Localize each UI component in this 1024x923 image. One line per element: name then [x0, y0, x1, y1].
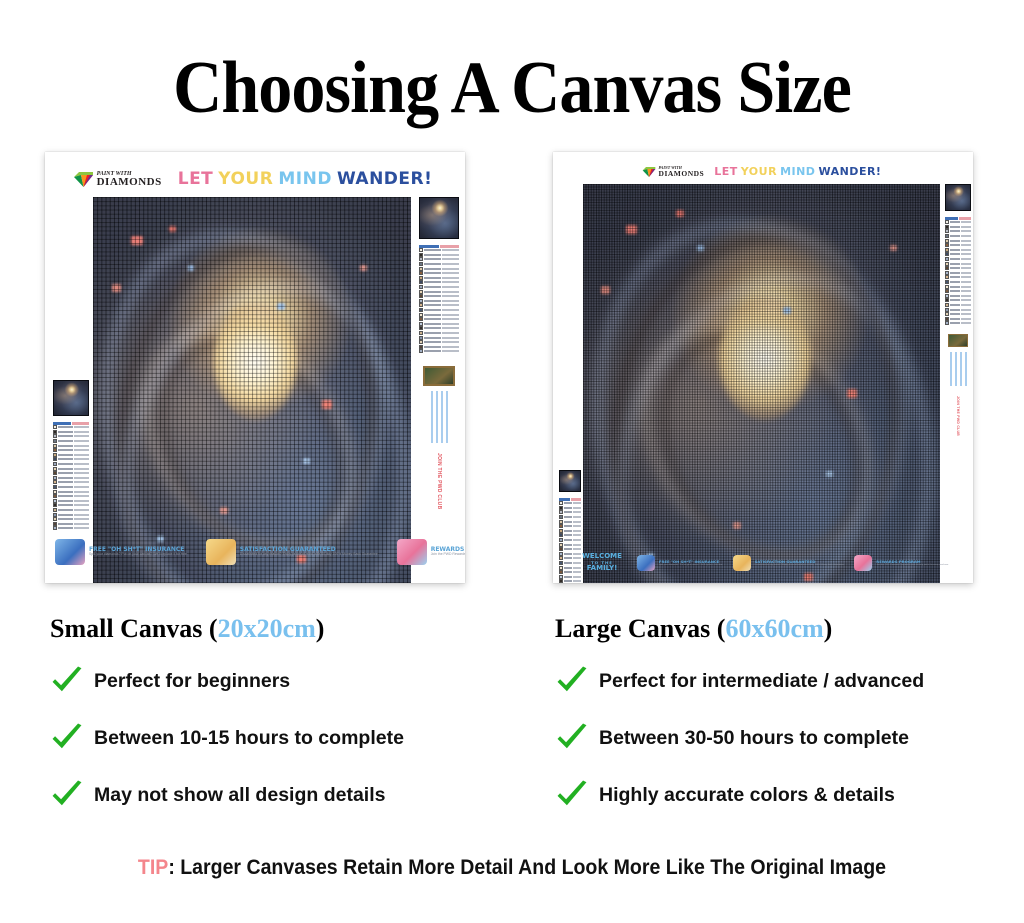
star-cluster — [112, 284, 121, 292]
dmc-qty — [573, 507, 581, 509]
dmc-color-chart — [419, 244, 459, 354]
dmc-qty — [442, 300, 459, 302]
dmc-qty — [961, 249, 971, 251]
tip-label: TIP — [138, 856, 168, 879]
large-canvas-preview: PAINT WITH DIAMONDS LETYOURMINDWANDER! — [553, 152, 973, 583]
galaxy-artwork-large — [583, 184, 940, 583]
dmc-qty — [74, 523, 89, 525]
star-cluster — [890, 245, 897, 251]
star-cluster — [826, 471, 833, 477]
dmc-qty — [961, 309, 971, 311]
large-canvas-dimensions: 60x60cm — [725, 614, 823, 643]
star-cluster — [169, 226, 176, 232]
dmc-code — [424, 263, 441, 265]
dmc-qty — [573, 525, 581, 527]
dmc-code — [950, 235, 960, 237]
thumbnail-image — [945, 184, 971, 211]
welcome-badge: WELCOME TO THE FAMILY! — [582, 553, 622, 573]
dmc-qty — [74, 527, 89, 529]
dmc-code — [424, 309, 441, 311]
dmc-code — [58, 440, 73, 442]
brand-logo: PAINT WITH DIAMONDS — [642, 166, 705, 178]
dmc-code — [950, 240, 960, 242]
dmc-qty — [961, 295, 971, 297]
dmc-code — [950, 221, 960, 223]
dmc-code — [58, 500, 73, 502]
dmc-qty — [442, 318, 459, 320]
dmc-code — [58, 468, 73, 470]
galaxy-image — [93, 197, 411, 583]
dmc-code — [950, 304, 960, 306]
info-bar — [950, 352, 952, 386]
thumbnail-image — [419, 197, 459, 239]
dmc-qty — [74, 509, 89, 511]
dmc-code — [950, 309, 960, 311]
reference-thumbnail — [945, 184, 971, 211]
info-bar — [955, 352, 957, 386]
canvas-footer-badges: WELCOME TO THE FAMILY! FREE "OH SH*T" IN… — [45, 533, 465, 571]
dmc-qty — [442, 327, 459, 329]
checkmark-icon — [50, 780, 84, 810]
rewards-badge: REWARDS PROGRAM Join the PWD Rewards Pro… — [397, 539, 465, 565]
dmc-code — [564, 580, 572, 582]
insurance-badge: FREE "OH SH*T" INSURANCE Spill your diam… — [55, 539, 188, 565]
large-canvas-details: Large Canvas (60x60cm) Perfect for inter… — [555, 614, 1024, 837]
dmc-qty — [961, 263, 971, 265]
canvas-header: PAINT WITH DIAMONDS LETYOURMINDWANDER! — [45, 170, 465, 188]
feature-item: Highly accurate colors & details — [555, 780, 1024, 810]
dmc-swatch — [419, 349, 423, 353]
dmc-code — [58, 504, 73, 506]
dmc-code — [950, 244, 960, 246]
dmc-code — [424, 272, 441, 274]
dmc-qty — [442, 309, 459, 311]
dmc-qty — [74, 486, 89, 488]
dmc-code — [58, 472, 73, 474]
dmc-qty — [74, 463, 89, 465]
dmc-code — [950, 281, 960, 283]
dmc-code — [950, 313, 960, 315]
small-canvas-details: Small Canvas (20x20cm) Perfect for begin… — [50, 614, 510, 837]
dmc-qty — [961, 221, 971, 223]
dmc-code — [424, 291, 441, 293]
dmc-code — [58, 426, 73, 428]
dmc-qty — [442, 291, 459, 293]
feature-label: Between 10-15 hours to complete — [94, 727, 404, 750]
dmc-color-chart — [53, 421, 89, 531]
dmc-qty — [573, 516, 581, 518]
dmc-qty — [442, 314, 459, 316]
dmc-code — [564, 525, 572, 527]
dmc-qty — [961, 267, 971, 269]
dmc-qty — [74, 431, 89, 433]
dmc-code — [950, 226, 960, 228]
info-bars — [431, 391, 448, 443]
dmc-qty — [961, 230, 971, 232]
star-cluster — [360, 265, 367, 271]
dmc-row — [945, 321, 971, 326]
dmc-code — [58, 477, 73, 479]
dmc-code — [424, 304, 441, 306]
star-cluster — [626, 225, 637, 234]
dmc-swatch — [53, 526, 57, 530]
dmc-qty — [74, 518, 89, 520]
dmc-code — [424, 337, 441, 339]
dmc-code — [424, 341, 441, 343]
brand-wordmark: PAINT WITH DIAMONDS — [659, 166, 705, 178]
dmc-qty — [961, 281, 971, 283]
dmc-qty — [961, 276, 971, 278]
dmc-qty — [74, 468, 89, 470]
dmc-code — [564, 516, 572, 518]
page-title: Choosing A Canvas Size — [41, 46, 983, 130]
star-cluster — [783, 307, 791, 314]
slogan: LETYOURMINDWANDER! — [714, 165, 884, 178]
legend-strip-left — [53, 380, 89, 531]
dmc-qty — [74, 504, 89, 506]
star-cluster — [733, 522, 741, 529]
canvas-footer-badges: WELCOME TO THE FAMILY! FREE "OH SH*T" IN… — [553, 551, 973, 575]
dmc-qty — [442, 272, 459, 274]
dmc-qty — [74, 500, 89, 502]
dmc-code — [58, 449, 73, 451]
framed-art-icon — [423, 366, 455, 386]
dmc-qty — [961, 286, 971, 288]
feature-label: May not show all design details — [94, 784, 385, 807]
dmc-qty — [442, 304, 459, 306]
brand-logo: PAINT WITH DIAMONDS — [73, 171, 162, 188]
dmc-code — [950, 267, 960, 269]
dmc-qty — [442, 337, 459, 339]
dmc-qty — [74, 477, 89, 479]
star-cluster — [220, 507, 228, 514]
reference-thumbnail — [53, 380, 89, 416]
dmc-code — [424, 277, 441, 279]
dmc-qty — [961, 313, 971, 315]
star-cluster — [322, 400, 332, 409]
dmc-swatch — [559, 579, 563, 583]
dmc-qty — [442, 249, 459, 251]
dmc-code — [424, 254, 441, 256]
dmc-code — [950, 253, 960, 255]
dmc-code — [58, 454, 73, 456]
galaxy-core — [719, 297, 812, 420]
dmc-code — [58, 527, 73, 529]
dmc-code — [58, 435, 73, 437]
star-cluster — [131, 236, 143, 245]
dmc-qty — [573, 511, 581, 513]
dmc-code — [950, 299, 960, 301]
galaxy-image — [583, 184, 940, 583]
dmc-code — [58, 495, 73, 497]
dmc-qty — [573, 521, 581, 523]
canvas-header: PAINT WITH DIAMONDS LETYOURMINDWANDER! — [553, 165, 973, 178]
feature-label: Between 30-50 hours to complete — [599, 727, 909, 750]
dmc-qty — [573, 580, 581, 582]
dmc-code — [58, 523, 73, 525]
star-cluster — [697, 245, 704, 251]
info-bar — [431, 391, 433, 443]
dmc-code — [950, 249, 960, 251]
dmc-qty — [442, 341, 459, 343]
dmc-qty — [961, 240, 971, 242]
dmc-code — [950, 295, 960, 297]
dmc-code — [950, 322, 960, 324]
dmc-row — [559, 579, 581, 583]
reference-thumbnail — [559, 470, 581, 492]
legend-strip-right: JOIN THE PWD CLUB — [419, 197, 459, 509]
feature-item: Between 30-50 hours to complete — [555, 723, 1024, 753]
dmc-code — [950, 230, 960, 232]
dmc-code — [564, 534, 572, 536]
dmc-code — [424, 314, 441, 316]
dmc-qty — [442, 323, 459, 325]
dmc-code — [564, 539, 572, 541]
dmc-code — [950, 318, 960, 320]
info-bar — [960, 352, 962, 386]
dmc-code — [950, 276, 960, 278]
info-bar — [446, 391, 448, 443]
star-cluster — [277, 303, 285, 310]
dmc-code — [424, 300, 441, 302]
dmc-code — [950, 272, 960, 274]
star-cluster — [303, 458, 310, 464]
info-bar — [436, 391, 438, 443]
large-canvas-heading: Large Canvas (60x60cm) — [555, 614, 1024, 644]
diamond-logo-icon — [73, 171, 94, 188]
dmc-qty — [573, 534, 581, 536]
diamond-logo-icon — [642, 166, 656, 178]
thumbnail-image — [53, 380, 89, 416]
star-cluster — [601, 286, 610, 294]
dmc-code — [950, 263, 960, 265]
reference-thumbnail — [419, 197, 459, 239]
feature-item: Between 10-15 hours to complete — [50, 723, 510, 753]
dmc-code — [424, 318, 441, 320]
dmc-code — [424, 350, 441, 352]
framed-art-icon — [948, 334, 969, 347]
dmc-code — [58, 491, 73, 493]
dmc-row — [419, 349, 459, 354]
dmc-qty — [961, 318, 971, 320]
small-canvas-heading: Small Canvas (20x20cm) — [50, 614, 510, 644]
checkmark-icon — [50, 666, 84, 696]
dmc-qty — [573, 548, 581, 550]
dmc-code — [564, 530, 572, 532]
feature-label: Highly accurate colors & details — [599, 784, 895, 807]
checkmark-icon — [555, 666, 589, 696]
dmc-qty — [961, 226, 971, 228]
dmc-row — [53, 526, 89, 531]
dmc-qty — [573, 576, 581, 578]
dmc-code — [58, 518, 73, 520]
dmc-code — [564, 548, 572, 550]
feature-label: Perfect for intermediate / advanced — [599, 670, 924, 693]
dmc-qty — [442, 254, 459, 256]
dmc-qty — [74, 440, 89, 442]
dmc-code — [950, 258, 960, 260]
dmc-qty — [442, 268, 459, 270]
dmc-code — [424, 249, 441, 251]
dmc-code — [58, 463, 73, 465]
dmc-code — [424, 286, 441, 288]
dmc-qty — [74, 495, 89, 497]
tip-bar: TIP: Larger Canvases Retain More Detail … — [36, 856, 988, 880]
small-canvas-preview: PAINT WITH DIAMONDS LETYOURMINDWANDER! — [45, 152, 465, 583]
dmc-code — [58, 445, 73, 447]
dmc-qty — [442, 295, 459, 297]
dmc-qty — [961, 253, 971, 255]
tip-text: : Larger Canvases Retain More Detail And… — [168, 856, 886, 879]
galaxy-artwork-small — [93, 197, 411, 583]
dmc-code — [424, 258, 441, 260]
checkmark-icon — [50, 723, 84, 753]
dmc-qty — [74, 435, 89, 437]
dmc-code — [424, 332, 441, 334]
rewards-icon — [854, 555, 872, 571]
info-bars — [950, 352, 967, 386]
star-cluster — [847, 389, 857, 398]
info-bar — [441, 391, 443, 443]
dmc-qty — [573, 544, 581, 546]
spilled-diamonds-icon — [55, 539, 85, 565]
dmc-qty — [74, 491, 89, 493]
dmc-qty — [74, 426, 89, 428]
slogan: LETYOURMINDWANDER! — [178, 169, 438, 189]
dmc-code — [564, 544, 572, 546]
dmc-qty — [74, 449, 89, 451]
legend-strip-right: JOIN THE PWD CLUB — [945, 184, 971, 436]
checkmark-icon — [555, 723, 589, 753]
dmc-qty — [442, 258, 459, 260]
dmc-qty — [74, 472, 89, 474]
guarantee-icon — [206, 539, 236, 565]
guarantee-badge: SATISFACTION GUARANTEED Dissatisfied for… — [733, 555, 845, 571]
dmc-code — [424, 268, 441, 270]
dmc-code — [424, 295, 441, 297]
feature-label: Perfect for beginners — [94, 670, 290, 693]
feature-item: Perfect for beginners — [50, 666, 510, 696]
spilled-diamonds-icon — [637, 555, 655, 571]
club-label: JOIN THE PWD CLUB — [436, 453, 442, 510]
dmc-qty — [442, 346, 459, 348]
guarantee-icon — [733, 555, 751, 571]
dmc-code — [58, 509, 73, 511]
dmc-qty — [74, 445, 89, 447]
dmc-qty — [442, 263, 459, 265]
dmc-qty — [961, 258, 971, 260]
club-label: JOIN THE PWD CLUB — [956, 396, 960, 436]
galaxy-core — [214, 303, 297, 419]
dmc-qty — [573, 539, 581, 541]
dmc-code — [950, 286, 960, 288]
dmc-qty — [74, 458, 89, 460]
dmc-qty — [442, 332, 459, 334]
thumbnail-image — [559, 470, 581, 492]
dmc-code — [950, 290, 960, 292]
dmc-code — [424, 346, 441, 348]
feature-item: Perfect for intermediate / advanced — [555, 666, 1024, 696]
dmc-qty — [961, 290, 971, 292]
info-bar — [965, 352, 967, 386]
guarantee-badge: SATISFACTION GUARANTEED Dissatisfied for… — [206, 539, 379, 565]
dmc-code — [564, 576, 572, 578]
dmc-color-chart — [945, 216, 971, 326]
feature-item: May not show all design details — [50, 780, 510, 810]
dmc-qty — [573, 502, 581, 504]
dmc-qty — [961, 272, 971, 274]
small-canvas-dimensions: 20x20cm — [218, 614, 316, 643]
dmc-code — [58, 514, 73, 516]
dmc-code — [564, 507, 572, 509]
brand-wordmark: PAINT WITH DIAMONDS — [97, 171, 162, 188]
dmc-qty — [442, 286, 459, 288]
dmc-code — [58, 458, 73, 460]
rewards-badge: REWARDS PROGRAM Join the PWD Rewards Pro… — [854, 555, 949, 571]
dmc-code — [424, 323, 441, 325]
dmc-qty — [961, 304, 971, 306]
dmc-qty — [573, 530, 581, 532]
dmc-qty — [961, 322, 971, 324]
dmc-code — [424, 281, 441, 283]
dmc-qty — [74, 514, 89, 516]
dmc-code — [424, 327, 441, 329]
star-cluster — [676, 210, 684, 217]
insurance-badge: FREE "OH SH*T" INSURANCE Spill your diam… — [637, 555, 723, 571]
dmc-qty — [442, 277, 459, 279]
dmc-code — [564, 521, 572, 523]
dmc-code — [58, 431, 73, 433]
dmc-qty — [961, 299, 971, 301]
dmc-code — [564, 511, 572, 513]
star-cluster — [188, 265, 194, 271]
dmc-qty — [961, 235, 971, 237]
dmc-code — [58, 481, 73, 483]
dmc-qty — [74, 481, 89, 483]
dmc-qty — [74, 454, 89, 456]
dmc-code — [58, 486, 73, 488]
rewards-icon — [397, 539, 427, 565]
checkmark-icon — [555, 780, 589, 810]
dmc-code — [564, 502, 572, 504]
dmc-qty — [442, 350, 459, 352]
dmc-qty — [961, 244, 971, 246]
dmc-qty — [442, 281, 459, 283]
dmc-swatch — [945, 321, 949, 325]
